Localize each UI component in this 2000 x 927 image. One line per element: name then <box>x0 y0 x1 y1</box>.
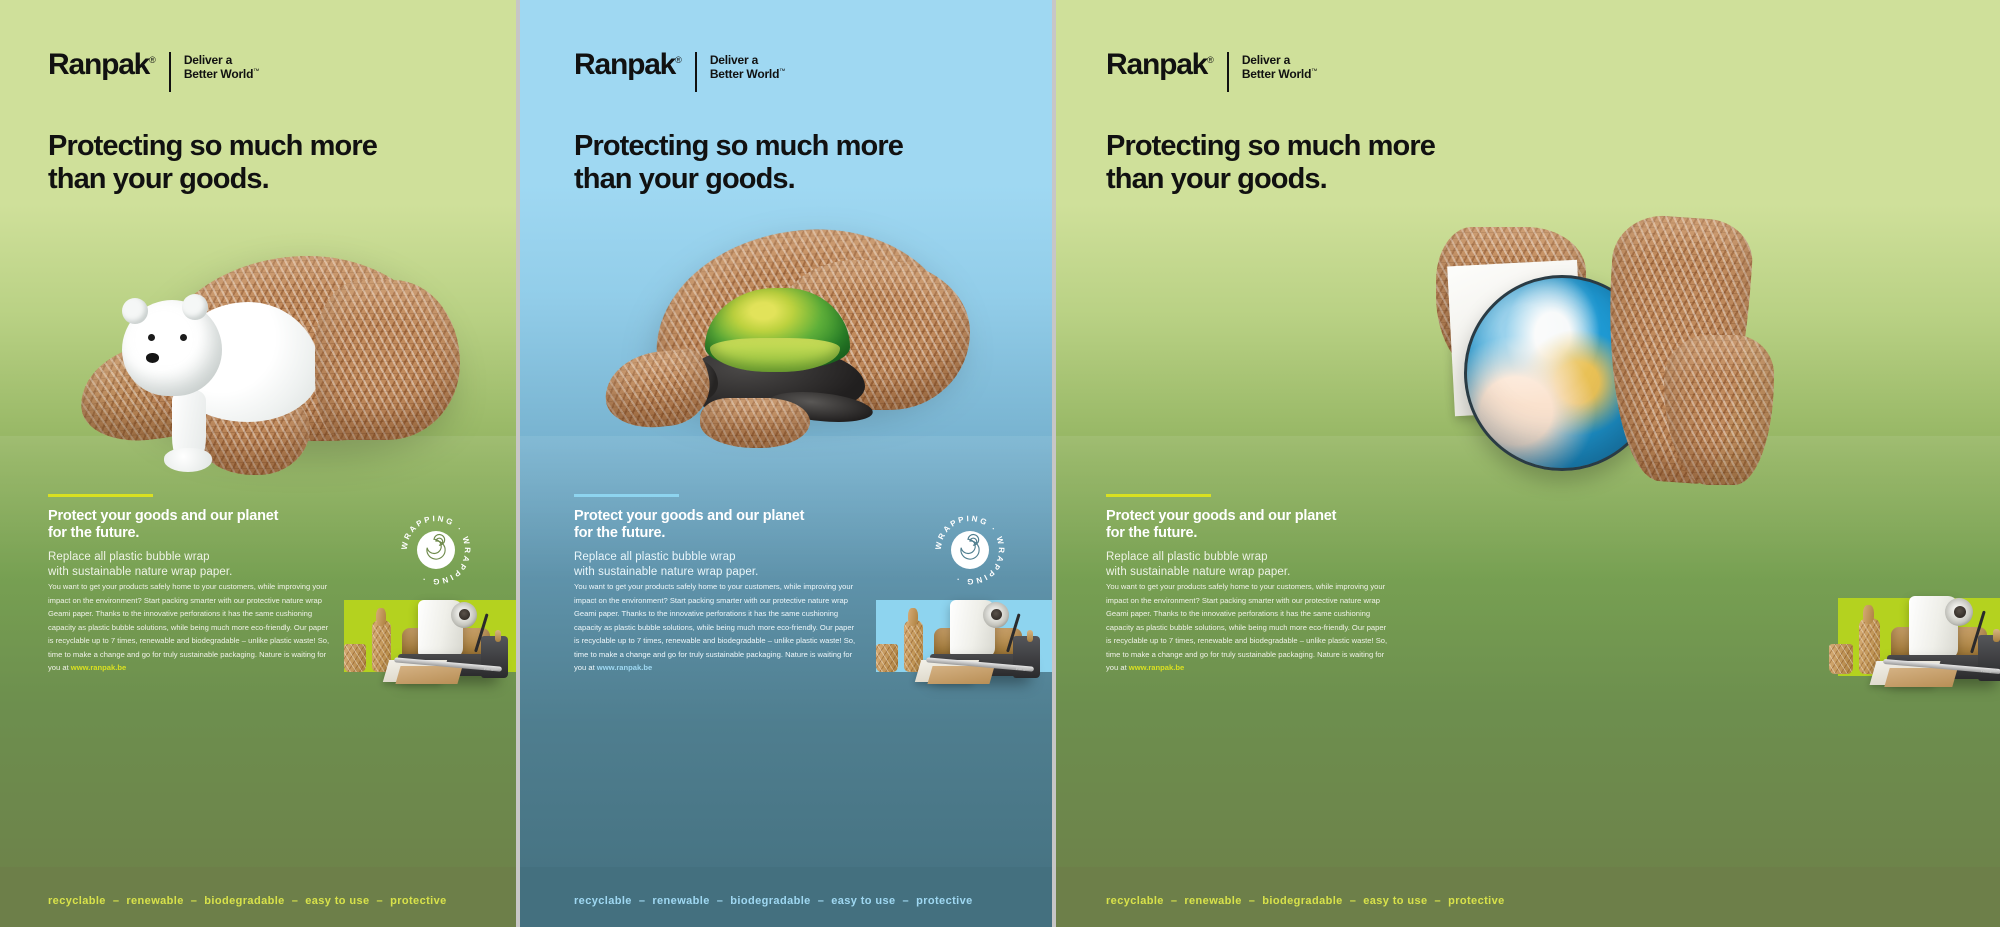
tagline-item-renewable: renewable <box>1184 895 1241 907</box>
logo-tagline: Deliver a Better World™ <box>184 50 259 81</box>
logo-tagline: Deliver a Better World™ <box>1242 50 1317 81</box>
tagline-item-biodegradable: biodegradable <box>1262 895 1342 907</box>
subhead: Protect your goods and our planet for th… <box>1106 508 1426 543</box>
logo-tagline-line2: Better World™ <box>184 67 259 81</box>
subhead-line-2: for the future. <box>574 525 894 542</box>
body-text: You want to get your products safely hom… <box>48 582 329 672</box>
hero-image-globe <box>1416 215 1836 485</box>
headline-line-2: than your goods. <box>1106 163 1435 196</box>
subhead: Protect your goods and our planet for th… <box>574 508 894 543</box>
ranpak-logo: Ranpak® Deliver a Better World™ <box>1106 50 1317 92</box>
poster-board: Ranpak® Deliver a Better World™ Protecti… <box>0 0 2000 927</box>
subhead-line-1: Protect your goods and our planet <box>574 508 894 525</box>
logo-tagline-line1: Deliver a <box>710 53 785 67</box>
logo-tagline-line1: Deliver a <box>1242 53 1317 67</box>
logo-wordmark: Ranpak® <box>574 50 682 80</box>
body-copy: You want to get your products safely hom… <box>574 580 859 675</box>
tagline: recyclable–renewable–biodegradable–easy … <box>48 895 447 907</box>
tagline-item-protective: protective <box>1448 895 1505 907</box>
lead-line-1: Replace all plastic bubble wrap <box>1106 550 1436 565</box>
logo-tagline-line2: Better World™ <box>710 67 785 81</box>
ranpak-website-link[interactable]: www.ranpak.be <box>71 663 126 672</box>
lead-line-2: with sustainable nature wrap paper. <box>574 565 904 580</box>
ranpak-website-link[interactable]: www.ranpak.be <box>1129 663 1184 672</box>
tagline-sep: – <box>1164 895 1185 907</box>
page-title: Protecting so much more than your goods. <box>1106 130 1435 196</box>
tagline-sep: – <box>896 895 917 907</box>
wrapping-seal-badge: WRAPPING · WRAPPING · <box>398 512 474 588</box>
logo-tagline-line1: Deliver a <box>184 53 259 67</box>
machine-product-image: Ranpak <box>1821 592 2000 688</box>
lead-copy: Replace all plastic bubble wrap with sus… <box>574 550 904 579</box>
lead-line-1: Replace all plastic bubble wrap <box>48 550 378 565</box>
wrapping-seal-badge: WRAPPING · WRAPPING · <box>932 512 1008 588</box>
subhead-line-1: Protect your goods and our planet <box>48 508 368 525</box>
tagline-item-renewable: renewable <box>652 895 709 907</box>
logo-divider <box>1227 52 1229 92</box>
machine-product-image: Ranpak <box>338 596 516 686</box>
logo-divider <box>169 52 171 92</box>
body-copy: You want to get your products safely hom… <box>1106 580 1391 675</box>
headline-line-1: Protecting so much more <box>48 130 377 163</box>
subhead: Protect your goods and our planet for th… <box>48 508 368 543</box>
logo-wordmark: Ranpak® <box>48 50 156 80</box>
logo-tagline: Deliver a Better World™ <box>710 50 785 81</box>
lead-copy: Replace all plastic bubble wrap with sus… <box>48 550 378 579</box>
poster-panel-globe: Ranpak® Deliver a Better World™ Protecti… <box>1056 0 2000 927</box>
lead-copy: Replace all plastic bubble wrap with sus… <box>1106 550 1436 579</box>
lead-line-1: Replace all plastic bubble wrap <box>574 550 904 565</box>
tagline-sep: – <box>285 895 306 907</box>
poster-panel-turtle: Ranpak® Deliver a Better World™ Protecti… <box>520 0 1052 927</box>
machine-brand-label: Ranpak <box>1981 668 1997 673</box>
lead-line-2: with sustainable nature wrap paper. <box>48 565 378 580</box>
page-title: Protecting so much more than your goods. <box>48 130 377 196</box>
ranpak-website-link[interactable]: www.ranpak.be <box>597 663 652 672</box>
lead-line-2: with sustainable nature wrap paper. <box>1106 565 1436 580</box>
tagline-sep: – <box>370 895 391 907</box>
logo-divider <box>695 52 697 92</box>
headline-line-2: than your goods. <box>574 163 903 196</box>
machine-brand-label: Ranpak <box>1016 666 1030 671</box>
tagline: recyclable–renewable–biodegradable–easy … <box>1106 895 1505 907</box>
tagline-sep: – <box>1428 895 1449 907</box>
headline-line-2: than your goods. <box>48 163 377 196</box>
ranpak-logo: Ranpak® Deliver a Better World™ <box>48 50 259 92</box>
machine-brand-label: Ranpak <box>484 666 498 671</box>
hero-image-polar-bear <box>60 250 460 480</box>
tagline-sep: – <box>106 895 127 907</box>
tagline-sep: – <box>710 895 731 907</box>
subhead-line-1: Protect your goods and our planet <box>1106 508 1426 525</box>
tagline-item-biodegradable: biodegradable <box>730 895 810 907</box>
body-text: You want to get your products safely hom… <box>1106 582 1387 672</box>
page-title: Protecting so much more than your goods. <box>574 130 903 196</box>
body-copy: You want to get your products safely hom… <box>48 580 333 675</box>
tagline-item-easy-to-use: easy to use <box>305 895 369 907</box>
tagline-item-easy-to-use: easy to use <box>1363 895 1427 907</box>
ranpak-logo: Ranpak® Deliver a Better World™ <box>574 50 785 92</box>
subhead-line-2: for the future. <box>1106 525 1426 542</box>
subhead-line-2: for the future. <box>48 525 368 542</box>
tagline-item-recyclable: recyclable <box>48 895 106 907</box>
tagline-sep: – <box>1242 895 1263 907</box>
body-text: You want to get your products safely hom… <box>574 582 855 672</box>
tagline: recyclable–renewable–biodegradable–easy … <box>574 895 973 907</box>
logo-wordmark: Ranpak® <box>1106 50 1214 80</box>
accent-rule <box>1106 494 1211 497</box>
headline-line-1: Protecting so much more <box>574 130 903 163</box>
tagline-item-recyclable: recyclable <box>574 895 632 907</box>
tagline-item-renewable: renewable <box>126 895 183 907</box>
machine-product-image: Ranpak <box>870 596 1050 686</box>
tagline-sep: – <box>811 895 832 907</box>
tagline-item-biodegradable: biodegradable <box>204 895 284 907</box>
tagline-sep: – <box>1343 895 1364 907</box>
tagline-item-recyclable: recyclable <box>1106 895 1164 907</box>
hero-image-turtle <box>560 230 1010 470</box>
logo-tagline-line2: Better World™ <box>1242 67 1317 81</box>
accent-rule <box>48 494 153 497</box>
accent-rule <box>574 494 679 497</box>
tagline-item-easy-to-use: easy to use <box>831 895 895 907</box>
tagline-sep: – <box>632 895 653 907</box>
tagline-item-protective: protective <box>390 895 447 907</box>
headline-line-1: Protecting so much more <box>1106 130 1435 163</box>
poster-panel-bear: Ranpak® Deliver a Better World™ Protecti… <box>0 0 516 927</box>
tagline-item-protective: protective <box>916 895 973 907</box>
tagline-sep: – <box>184 895 205 907</box>
